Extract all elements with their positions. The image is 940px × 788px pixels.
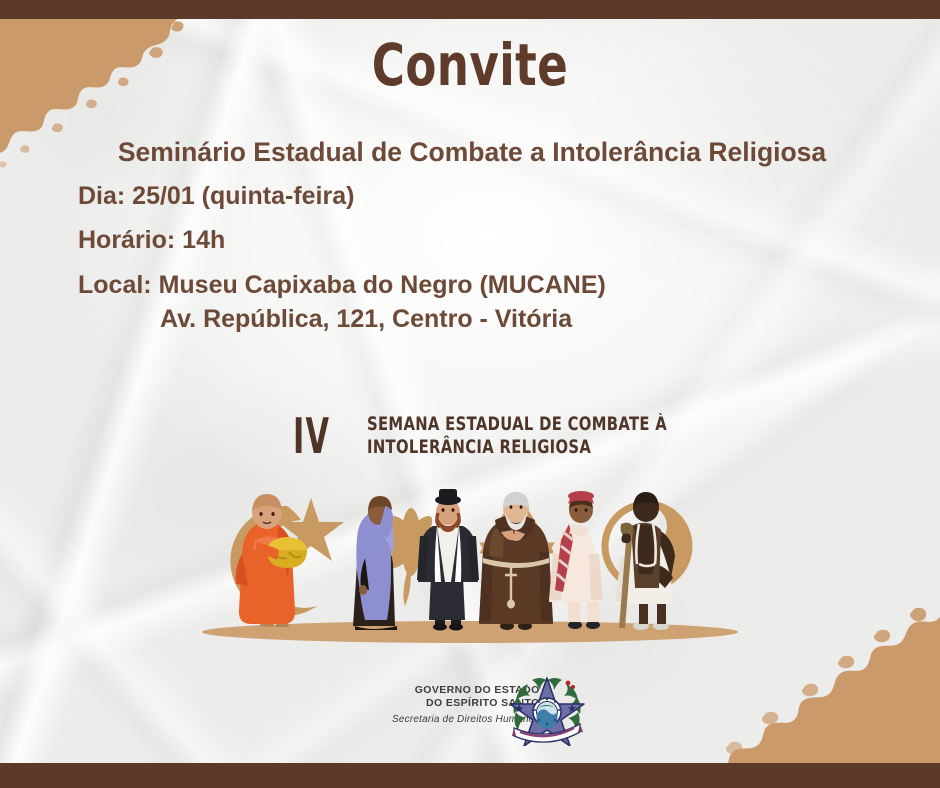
figure-muslim-woman bbox=[353, 496, 397, 630]
figure-franciscan-friar bbox=[479, 492, 553, 630]
event-details-block: Seminário Estadual de Combate a Intolerâ… bbox=[0, 136, 940, 334]
figure-jewish-rabbi bbox=[417, 489, 479, 631]
espirito-santo-coat-of-arms bbox=[508, 674, 586, 746]
religious-figures-illustration bbox=[195, 480, 755, 650]
bottom-brown-bar bbox=[0, 763, 940, 788]
event-venue: Local: Museu Capixaba do Negro (MUCANE) bbox=[0, 270, 940, 301]
campaign-name-line2: INTOLERÂNCIA RELIGIOSA bbox=[367, 437, 667, 460]
invitation-poster: Convite Seminário Estadual de Combate a … bbox=[0, 0, 940, 788]
figure-buddhist-monk bbox=[236, 494, 307, 627]
top-brown-bar bbox=[0, 0, 940, 19]
campaign-name: SEMANA ESTADUAL DE COMBATE À INTOLERÂNCI… bbox=[367, 414, 667, 459]
campaign-logo: IV SEMANA ESTADUAL DE COMBATE À INTOLERÂ… bbox=[293, 412, 742, 461]
event-time: Horário: 14h bbox=[0, 225, 940, 256]
event-title: Seminário Estadual de Combate a Intolerâ… bbox=[0, 136, 940, 168]
event-address: Av. República, 121, Centro - Vitória bbox=[0, 304, 940, 335]
edition-number: IV bbox=[293, 412, 330, 461]
event-day: Dia: 25/01 (quinta-feira) bbox=[0, 181, 940, 212]
campaign-name-line1: SEMANA ESTADUAL DE COMBATE À bbox=[367, 414, 667, 437]
page-title: Convite bbox=[103, 36, 836, 94]
figure-african-muslim-man bbox=[549, 491, 603, 629]
